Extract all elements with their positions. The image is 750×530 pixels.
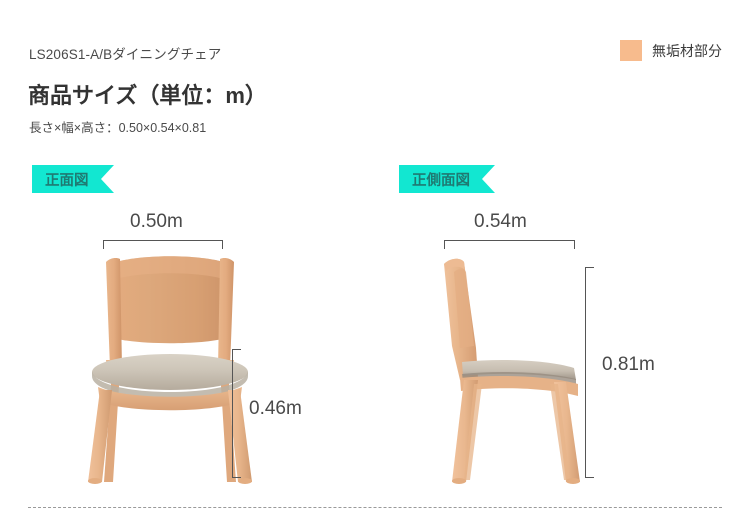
dimension-bracket-front-height [232, 349, 241, 478]
product-code: LS206S1-A/Bダイニングチェア [29, 43, 221, 63]
dimension-side-width: 0.54m [474, 211, 527, 233]
solid-wood-swatch-icon [620, 40, 642, 61]
ribbon-notch-icon [101, 165, 114, 193]
dimension-bracket-front-width [103, 240, 223, 249]
dimension-side-total-height: 0.81m [602, 354, 655, 376]
legend-label: 無垢材部分 [652, 41, 722, 61]
page-title: 商品サイズ（単位：m） [28, 78, 267, 110]
dimension-bracket-side-width [444, 240, 575, 249]
chair-front-view-illustration [80, 250, 280, 485]
view-label-side: 正側面図 [399, 165, 495, 193]
size-summary: 長さ×幅×高さ：0.50×0.54×0.81 [29, 117, 206, 136]
chair-side-view-illustration [430, 250, 630, 485]
dimension-front-width: 0.50m [130, 211, 183, 233]
ribbon-notch-icon [482, 165, 495, 193]
view-label-front: 正面図 [32, 165, 114, 193]
legend: 無垢材部分 [620, 40, 722, 61]
view-label-front-text: 正面図 [45, 169, 89, 190]
dimension-front-seat-height: 0.46m [249, 398, 302, 420]
dimension-bracket-side-height [585, 267, 594, 478]
footer-divider [28, 507, 722, 508]
view-label-side-text: 正側面図 [412, 169, 470, 190]
